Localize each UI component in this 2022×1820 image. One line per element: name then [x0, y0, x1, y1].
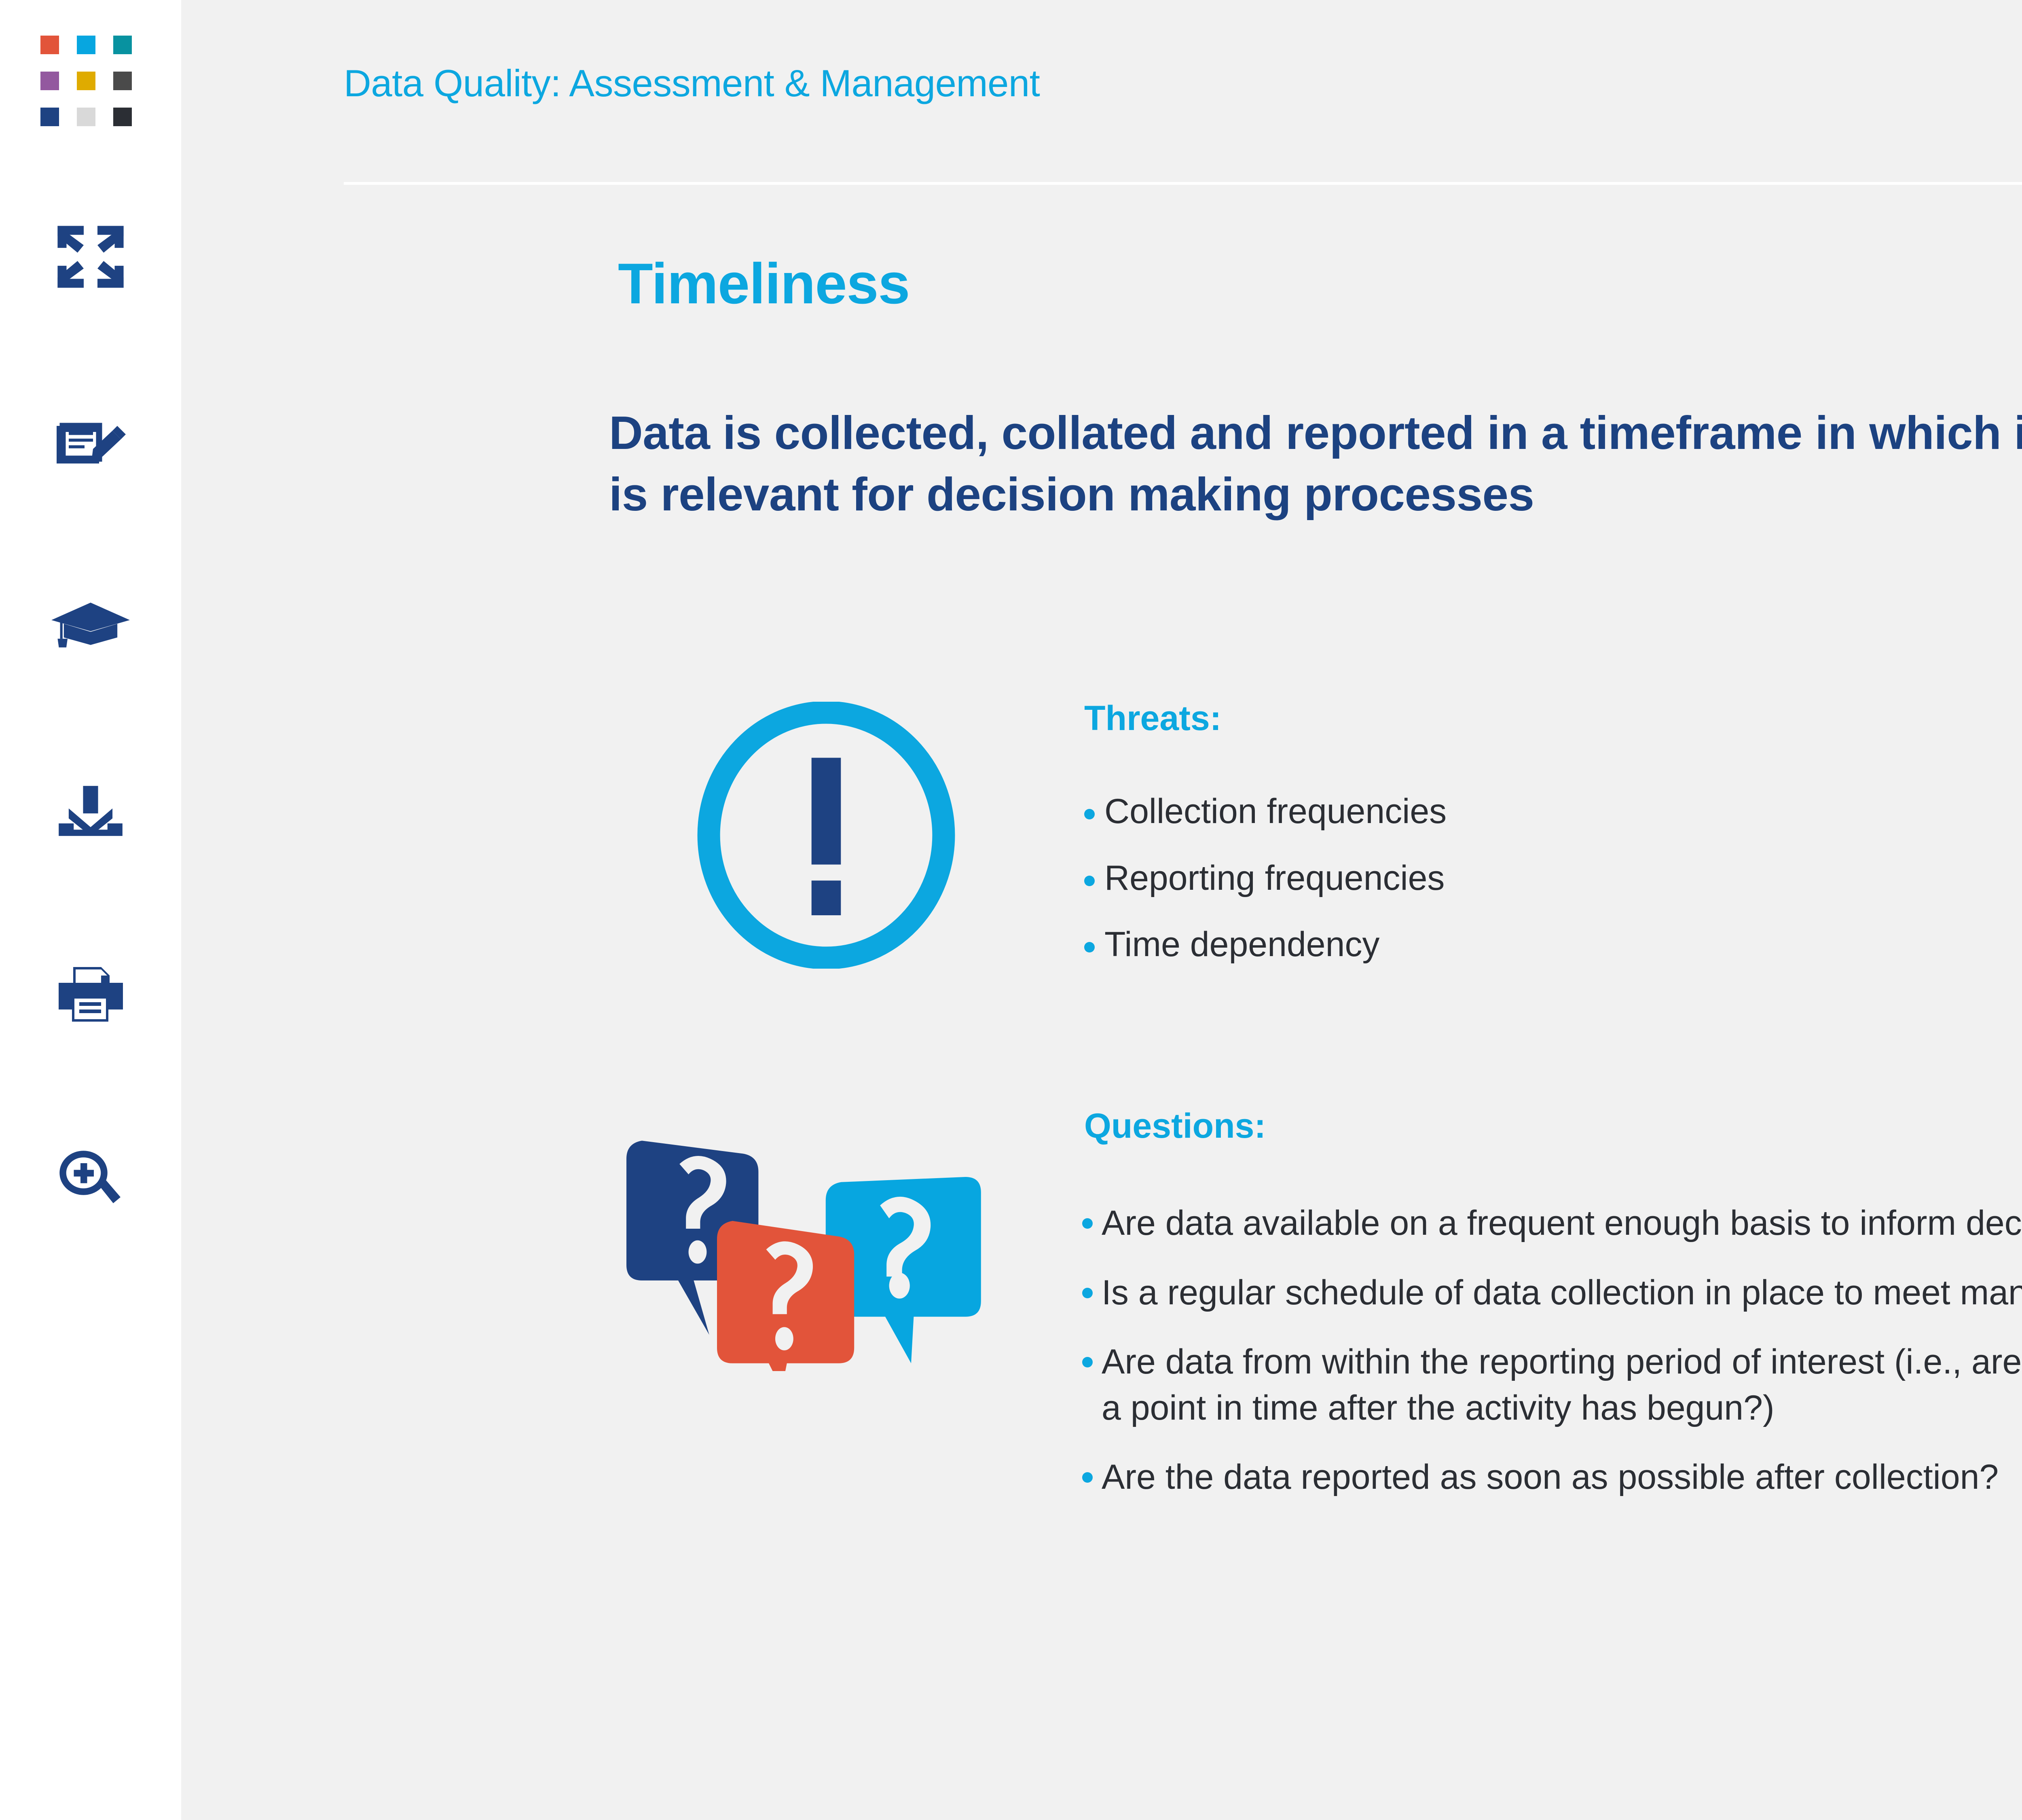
- logo-square-teal: [113, 36, 132, 54]
- bullet-dot-icon: [1084, 876, 1095, 886]
- header-divider: [344, 182, 2022, 185]
- exclamation-circle-icon: [693, 702, 960, 969]
- zoom-in-icon: [57, 1149, 124, 1209]
- list-item: Time dependency: [1084, 924, 2022, 965]
- questions-list: Are data available on a frequent enough …: [1082, 1200, 2022, 1524]
- page-title: Timeliness: [618, 251, 909, 317]
- questions-heading: Questions:: [1084, 1106, 1266, 1146]
- list-item: Are the data reported as soon as possibl…: [1082, 1454, 2022, 1500]
- sidebar-item-course[interactable]: [0, 597, 181, 657]
- question-text: Are data from within the reporting perio…: [1102, 1339, 2022, 1431]
- logo-square-orange: [40, 36, 59, 54]
- bullet-dot-icon: [1084, 809, 1095, 819]
- sidebar-item-zoom-in[interactable]: [0, 1149, 181, 1209]
- bullet-dot-icon: [1082, 1288, 1093, 1298]
- slide-header: Data Quality: Assessment & Management Sl…: [344, 49, 2022, 150]
- sidebar-item-print[interactable]: [0, 965, 181, 1025]
- brand-logo: [40, 36, 133, 121]
- question-text: Is a regular schedule of data collection…: [1102, 1270, 2022, 1316]
- threat-text: Reporting frequencies: [1104, 858, 1445, 899]
- question-bubbles-icon: [612, 1112, 1016, 1371]
- fullscreen-icon: [56, 224, 125, 289]
- slide-canvas: Data Quality: Assessment & Management Sl…: [181, 0, 2022, 1820]
- bullet-dot-icon: [1084, 942, 1095, 952]
- threats-heading: Threats:: [1084, 698, 1221, 739]
- list-item: Are data available on a frequent enough …: [1082, 1200, 2022, 1246]
- list-item: Collection frequencies: [1084, 791, 2022, 832]
- list-item: Is a regular schedule of data collection…: [1082, 1270, 2022, 1316]
- list-item: Are data from within the reporting perio…: [1082, 1339, 2022, 1431]
- download-icon: [56, 781, 125, 841]
- threat-text: Collection frequencies: [1104, 791, 1447, 832]
- list-item: Reporting frequencies: [1084, 858, 2022, 899]
- course-title: Data Quality: Assessment & Management: [344, 61, 1040, 105]
- bullet-dot-icon: [1082, 1218, 1093, 1229]
- logo-square-black: [113, 108, 132, 126]
- left-sidebar: [0, 0, 181, 1820]
- logo-square-purple: [40, 72, 59, 90]
- logo-square-gold: [77, 72, 95, 90]
- logo-square-navy: [40, 108, 59, 126]
- bullet-dot-icon: [1082, 1357, 1093, 1367]
- notes-edit-icon: [54, 413, 127, 473]
- slide-definition-text: Data is collected, collated and reported…: [609, 402, 2022, 525]
- graduation-cap-icon: [50, 599, 131, 655]
- question-text: Are data available on a frequent enough …: [1102, 1200, 2022, 1246]
- print-icon: [57, 965, 124, 1025]
- threat-text: Time dependency: [1104, 924, 1379, 965]
- sidebar-item-fullscreen[interactable]: [0, 226, 181, 287]
- sidebar-item-notes[interactable]: [0, 413, 181, 473]
- question-text: Are the data reported as soon as possibl…: [1102, 1454, 1999, 1500]
- threats-list: Collection frequencies Reporting frequen…: [1084, 791, 2022, 991]
- logo-square-lightgray: [77, 108, 95, 126]
- logo-square-darkgray: [113, 72, 132, 90]
- logo-square-lightblue: [77, 36, 95, 54]
- sidebar-item-download[interactable]: [0, 781, 181, 841]
- bullet-dot-icon: [1082, 1472, 1093, 1483]
